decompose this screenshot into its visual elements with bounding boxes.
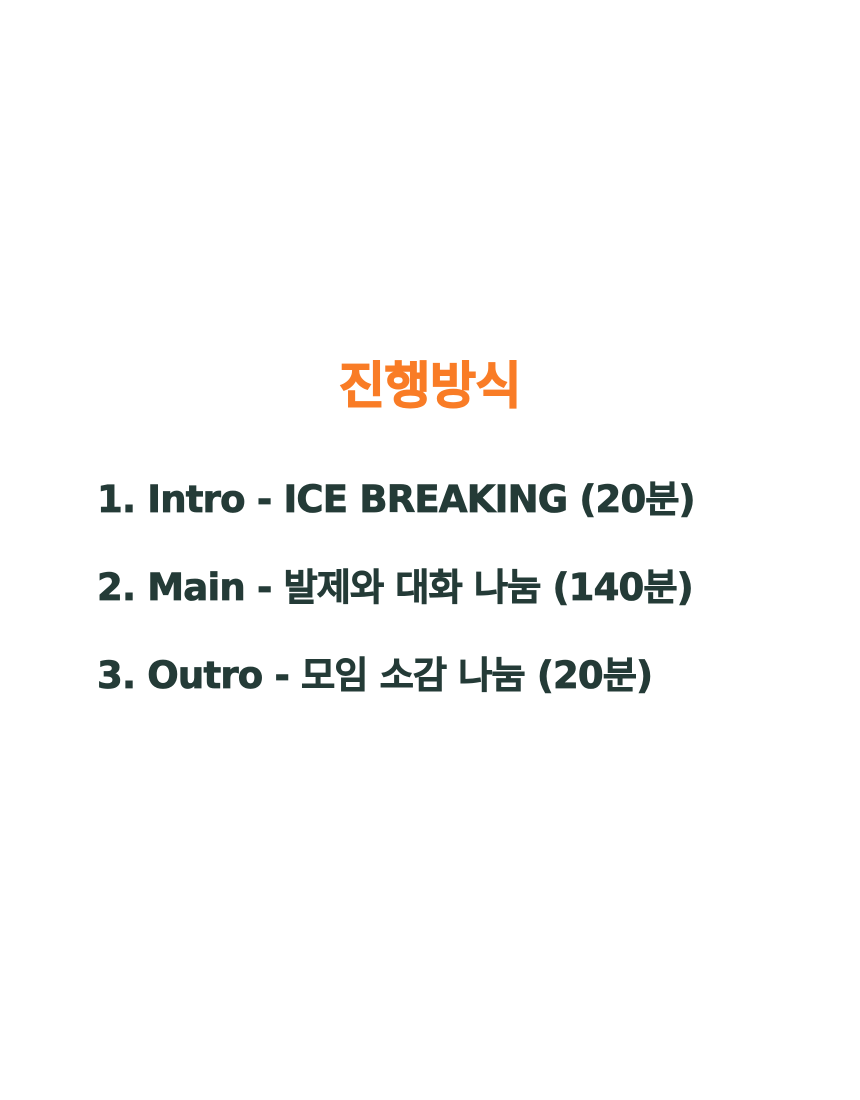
slide-canvas: 진행방식 1. Intro - ICE BREAKING (20분) 2. Ma… xyxy=(0,0,860,1100)
agenda-item-label: 1. Intro - ICE BREAKING (20분) xyxy=(97,478,695,522)
title-block: 진행방식 xyxy=(0,358,860,414)
list-item: 2. Main - 발제와 대화 나눔 (140분) xyxy=(97,566,797,654)
agenda-item-label: 2. Main - 발제와 대화 나눔 (140분) xyxy=(97,566,693,610)
agenda-list: 1. Intro - ICE BREAKING (20분) 2. Main - … xyxy=(97,478,797,742)
page-title: 진행방식 xyxy=(339,358,521,414)
list-item: 3. Outro - 모임 소감 나눔 (20분) xyxy=(97,654,797,742)
agenda-item-label: 3. Outro - 모임 소감 나눔 (20분) xyxy=(97,654,652,698)
list-item: 1. Intro - ICE BREAKING (20분) xyxy=(97,478,797,566)
